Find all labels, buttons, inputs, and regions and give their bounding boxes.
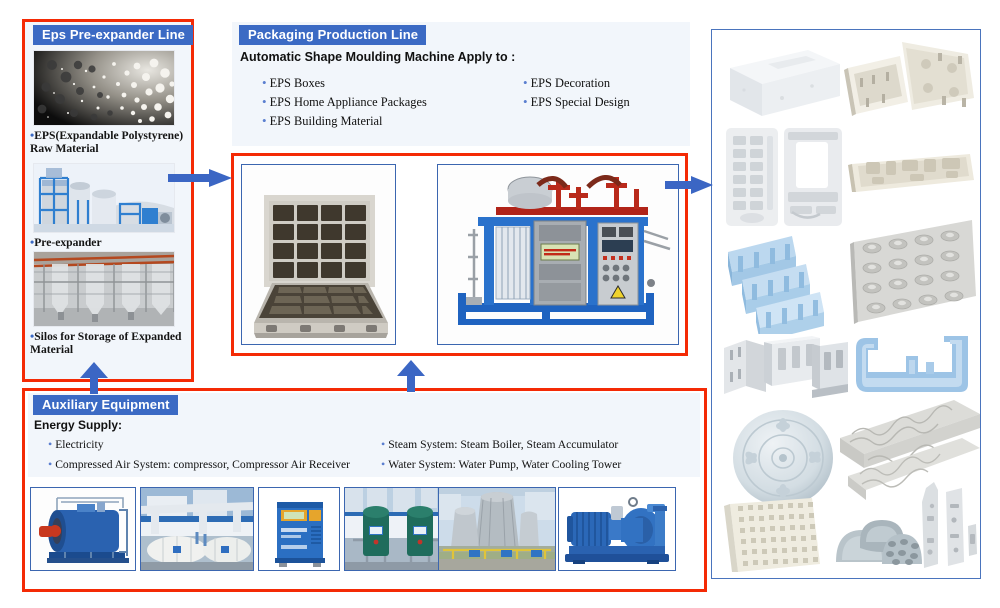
caption-text: Silos for Storage of Expanded Material (30, 330, 182, 356)
pre-expander-caption-1: •Pre-expander (30, 236, 186, 249)
app-label: EPS Boxes (270, 76, 325, 90)
auxiliary-item-label: Water System: Water Pump, Water Cooling … (388, 458, 621, 471)
caption-text: Pre-expander (34, 236, 101, 249)
eps-grid-packing-inserts-photo (720, 122, 850, 230)
eps-shaped-tray-photo (848, 142, 976, 198)
water-pump-photo (558, 487, 676, 571)
app-label: EPS Building Material (270, 114, 383, 128)
bullet-icon: • (262, 75, 267, 90)
bullet-icon: • (262, 94, 267, 109)
bullet-icon: • (381, 437, 385, 451)
packaging-app-item: •EPS Decoration (523, 75, 610, 91)
caption-text: EPS(Expandable Polystyrene) Raw Material (30, 129, 183, 155)
auxiliary-item-label: Compressed Air System: compressor, Compr… (55, 458, 350, 471)
pre-expander-title: Eps Pre-expander Line (33, 25, 193, 45)
bullet-icon: • (523, 94, 528, 109)
eps-blue-channel-profile-photo (852, 332, 976, 398)
auxiliary-item-label: Electricity (55, 438, 103, 451)
app-label: EPS Home Appliance Packages (270, 95, 427, 109)
auxiliary-item: •Electricity (48, 437, 104, 452)
storage-silos-photo (33, 251, 175, 327)
water-cooling-tower-photo (438, 487, 556, 571)
pre-expander-machine-photo (33, 163, 175, 233)
eps-foam-box-photo (722, 38, 846, 122)
auxiliary-item: •Water System: Water Pump, Water Cooling… (381, 457, 621, 472)
eps-mould-tooling-photo (241, 164, 396, 345)
steam-boiler-photo (30, 487, 136, 571)
eps-blue-insulation-blocks-photo (722, 230, 846, 334)
arrow-auxiliary-to-moulding (397, 360, 425, 392)
eps-decorative-ceiling-medallion-photo (728, 406, 838, 510)
packaging-app-item: •EPS Home Appliance Packages (262, 94, 427, 110)
eps-products-gallery (711, 29, 981, 579)
bullet-icon: • (523, 75, 528, 90)
eps-dimpled-insulation-board-photo (720, 496, 832, 574)
packaging-title: Packaging Production Line (239, 25, 426, 45)
arrow-preexpander-to-moulding (168, 169, 232, 187)
packaging-app-item: •EPS Building Material (262, 113, 382, 129)
auxiliary-item-label: Steam System: Steam Boiler, Steam Accumu… (388, 438, 618, 451)
bullet-icon: • (48, 457, 52, 471)
app-label: EPS Decoration (531, 76, 611, 90)
bullet-icon: • (48, 437, 52, 451)
eps-technical-moulded-parts-photo (916, 482, 980, 574)
steam-accumulator-photo (140, 487, 254, 571)
arrow-moulding-to-products (665, 176, 713, 194)
eps-appliance-corner-pads-photo (842, 36, 978, 128)
auxiliary-item: •Compressed Air System: compressor, Comp… (48, 457, 350, 472)
app-label: EPS Special Design (531, 95, 630, 109)
eps-raw-beads-photo (33, 50, 175, 126)
automatic-shape-moulding-machine-photo (437, 164, 679, 345)
bullet-icon: • (381, 457, 385, 471)
eps-building-formwork-blocks-photo (720, 330, 852, 410)
diagram-canvas: Eps Pre-expander Line (0, 0, 1000, 608)
packaging-subtitle: Automatic Shape Moulding Machine Apply t… (240, 50, 515, 64)
eps-studded-floor-heating-panel-photo (848, 218, 978, 328)
auxiliary-title: Auxiliary Equipment (33, 395, 178, 415)
energy-supply-label: Energy Supply: (34, 418, 122, 432)
pre-expander-caption-0: •EPS(Expandable Polystyrene) Raw Materia… (30, 129, 186, 155)
auxiliary-item: •Steam System: Steam Boiler, Steam Accum… (381, 437, 618, 452)
bullet-icon: • (262, 113, 267, 128)
packaging-app-item: •EPS Boxes (262, 75, 325, 91)
eps-helmet-liners-photo (830, 512, 926, 574)
pre-expander-caption-2: •Silos for Storage of Expanded Material (30, 330, 186, 356)
arrow-auxiliary-to-preexpander (80, 362, 108, 394)
packaging-app-item: •EPS Special Design (523, 94, 630, 110)
screw-air-compressor-photo (258, 487, 340, 571)
